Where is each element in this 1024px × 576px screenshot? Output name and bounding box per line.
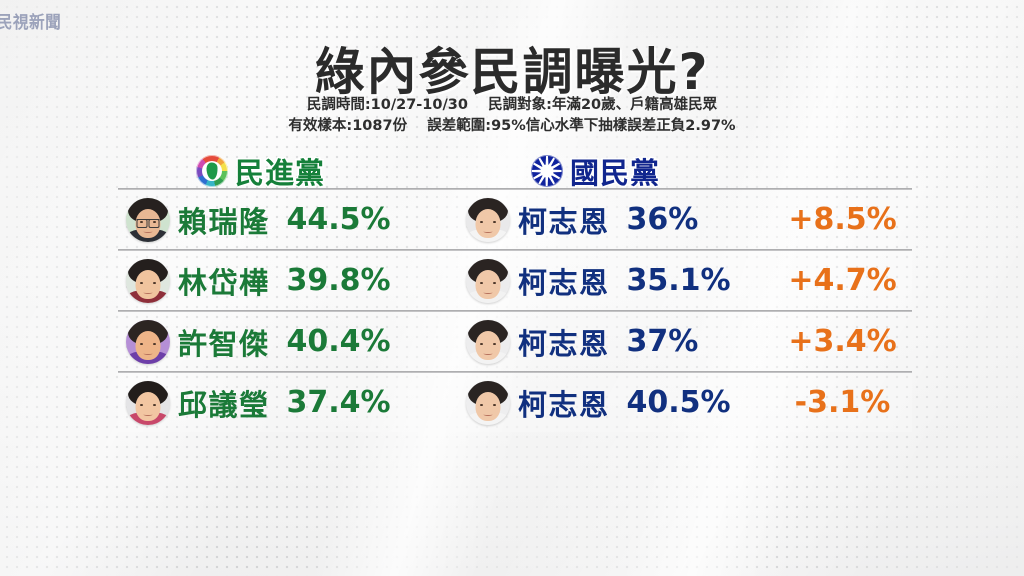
party-label-dpp: 民進黨 <box>235 150 325 192</box>
difference-cell: +4.7% <box>773 263 912 298</box>
kmt-candidate-cell: 柯志恩 36% <box>466 198 698 242</box>
difference-value: -3.1% <box>795 385 891 420</box>
candidate-name: 柯志恩 <box>518 321 610 363</box>
table-row: 許智傑 40.4% 柯志恩 37% +3.4% <box>118 312 912 371</box>
avatar <box>466 259 510 303</box>
avatar <box>466 320 510 364</box>
difference-cell: +8.5% <box>773 202 912 237</box>
avatar <box>126 259 170 303</box>
avatar <box>466 381 510 425</box>
table-row: 邱議瑩 37.4% 柯志恩 40.5% -3.1% <box>118 373 912 432</box>
poll-metadata: 民調時間:10/27-10/30 民調對象:年滿20歲、戶籍高雄民眾 有效樣本:… <box>0 95 1024 137</box>
party-label-kmt: 國民黨 <box>570 150 660 192</box>
candidate-percentage: 37.4% <box>287 385 391 420</box>
avatar <box>126 320 170 364</box>
dpp-candidate-cell: 林岱樺 39.8% <box>126 259 391 303</box>
dpp-candidate-cell: 邱議瑩 37.4% <box>126 381 391 425</box>
dpp-candidate-cell: 許智傑 40.4% <box>126 320 391 364</box>
difference-cell: +3.4% <box>773 324 912 359</box>
dpp-emblem-icon <box>196 155 228 187</box>
candidate-percentage: 39.8% <box>287 263 391 298</box>
candidate-name: 賴瑞隆 <box>178 199 270 241</box>
table-row: 林岱樺 39.8% 柯志恩 35.1% +4.7% <box>118 251 912 310</box>
candidate-percentage: 36% <box>627 202 699 237</box>
page-title: 綠內參民調曝光? <box>0 32 1024 104</box>
candidate-percentage: 40.5% <box>627 385 731 420</box>
avatar <box>126 381 170 425</box>
candidate-name: 林岱樺 <box>178 260 270 302</box>
candidate-name: 許智傑 <box>178 321 270 363</box>
poll-metadata-line-1: 民調時間:10/27-10/30 民調對象:年滿20歲、戶籍高雄民眾 <box>0 95 1024 116</box>
kmt-candidate-cell: 柯志恩 37% <box>466 320 698 364</box>
party-header-kmt: 國民黨 <box>531 150 660 192</box>
difference-value: +3.4% <box>788 324 896 359</box>
party-header-row: 民進黨 國民黨 <box>0 150 1024 188</box>
table-row: 賴瑞隆 44.5% 柯志恩 36% +8.5% <box>118 190 912 249</box>
candidate-name: 邱議瑩 <box>178 382 270 424</box>
avatar <box>126 198 170 242</box>
kmt-candidate-cell: 柯志恩 35.1% <box>466 259 731 303</box>
party-header-dpp: 民進黨 <box>196 150 325 192</box>
poll-metadata-line-2: 有效樣本:1087份 誤差範圍:95%信心水準下抽樣誤差正負2.97% <box>0 116 1024 137</box>
candidate-percentage: 44.5% <box>287 202 391 237</box>
channel-watermark: 民視新聞 <box>0 8 61 33</box>
poll-results-table: 賴瑞隆 44.5% 柯志恩 36% +8.5% <box>118 188 912 432</box>
candidate-name: 柯志恩 <box>518 382 610 424</box>
kmt-emblem-icon <box>531 155 563 187</box>
candidate-percentage: 35.1% <box>627 263 731 298</box>
candidate-percentage: 40.4% <box>287 324 391 359</box>
candidate-name: 柯志恩 <box>518 260 610 302</box>
kmt-candidate-cell: 柯志恩 40.5% <box>466 381 731 425</box>
candidate-percentage: 37% <box>627 324 699 359</box>
dpp-candidate-cell: 賴瑞隆 44.5% <box>126 198 391 242</box>
avatar <box>466 198 510 242</box>
difference-cell: -3.1% <box>773 385 912 420</box>
difference-value: +4.7% <box>788 263 896 298</box>
candidate-name: 柯志恩 <box>518 199 610 241</box>
difference-value: +8.5% <box>788 202 896 237</box>
